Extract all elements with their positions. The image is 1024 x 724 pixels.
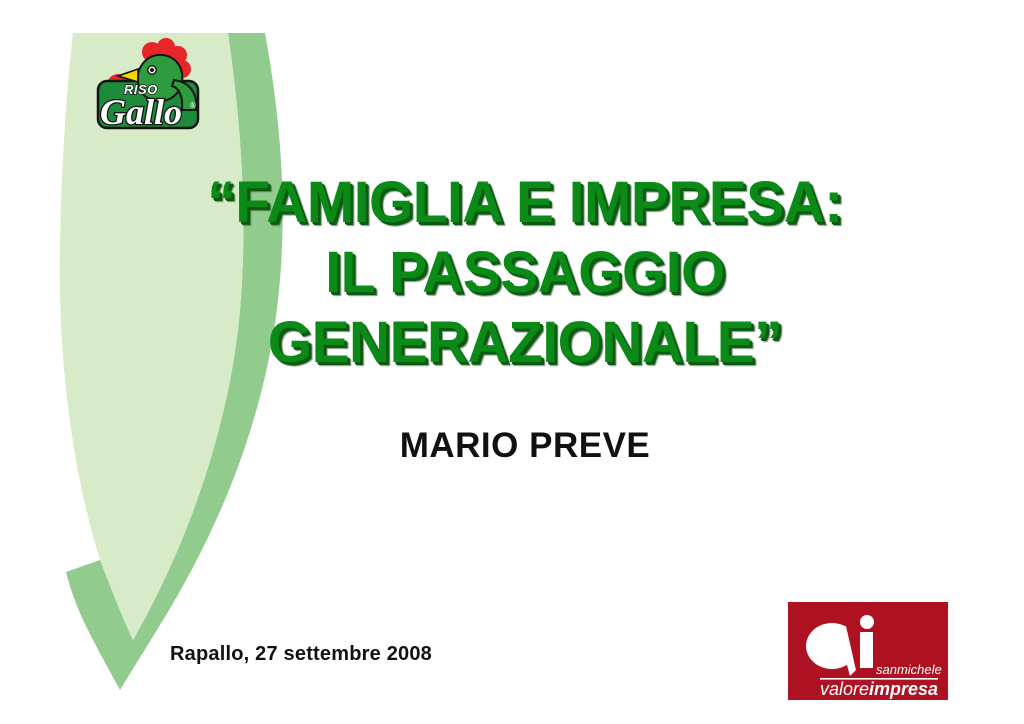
- sponsor-mark-i-dot: [860, 615, 874, 629]
- sponsor-text-sanmichele: sanmichele: [876, 662, 942, 677]
- slide-title: “FAMIGLIA E IMPRESA: IL PASSAGGIO GENERA…: [130, 168, 920, 378]
- sponsor-text-valore: valore: [820, 679, 869, 699]
- title-line-2: IL PASSAGGIO: [138, 238, 912, 308]
- presentation-slide: RISO Gallo ® “FAMIGLIA E IMPRESA: IL PAS…: [0, 0, 1024, 724]
- sanmichele-valoreimpresa-logo: sanmichele valoreimpresa: [788, 602, 948, 700]
- sponsor-text-valoreimpresa: valoreimpresa: [820, 679, 938, 699]
- speaker-name: MARIO PREVE: [130, 426, 920, 466]
- rooster-pupil-icon: [150, 68, 154, 72]
- title-line-3: GENERAZIONALE”: [138, 308, 912, 378]
- riso-gallo-logo: RISO Gallo ®: [86, 36, 210, 140]
- logo-trademark: ®: [190, 101, 196, 110]
- logo-word-gallo: Gallo: [100, 92, 182, 132]
- title-line-1: “FAMIGLIA E IMPRESA:: [138, 168, 912, 238]
- sponsor-text-impresa: impresa: [869, 679, 938, 699]
- sponsor-mark-i-stem: [860, 632, 873, 668]
- place-and-date: Rapallo, 27 settembre 2008: [170, 643, 432, 666]
